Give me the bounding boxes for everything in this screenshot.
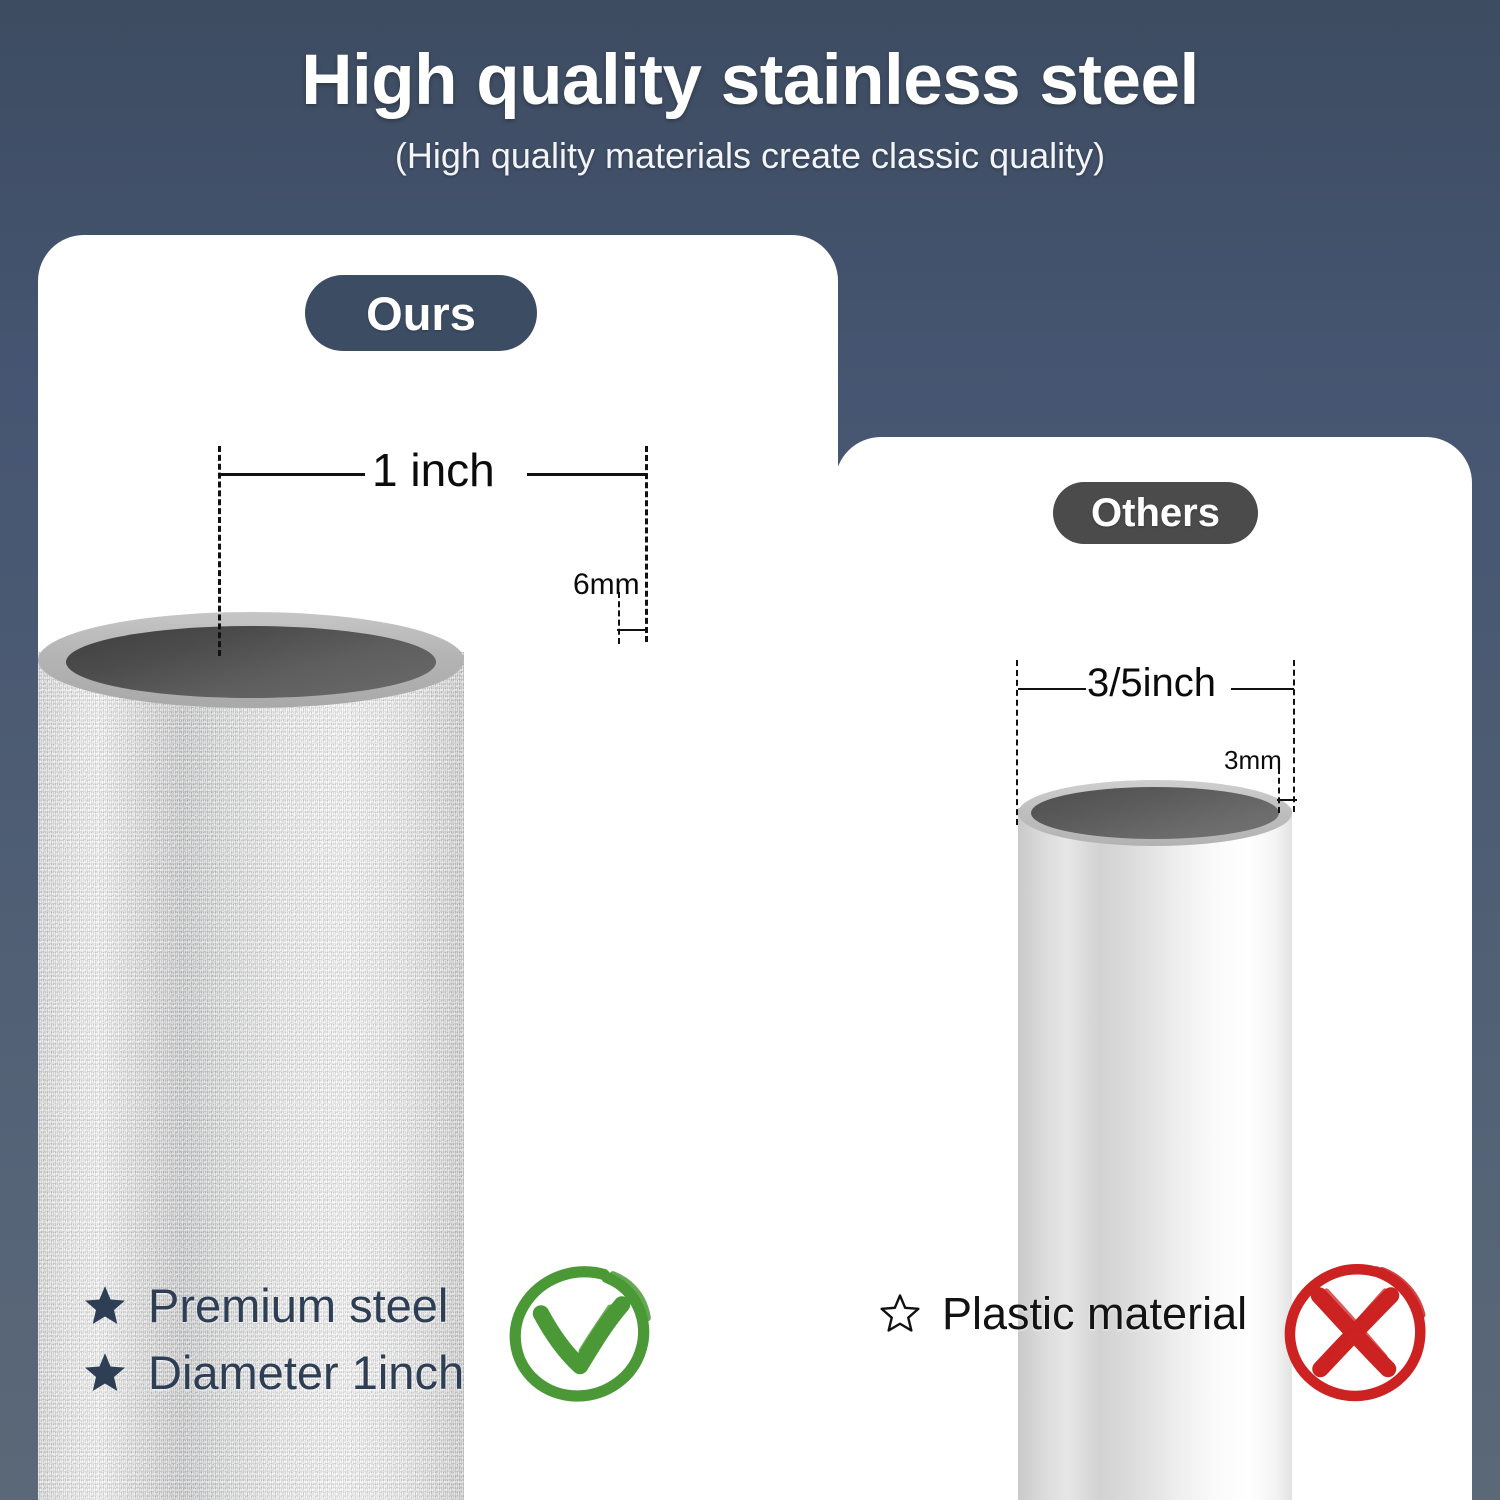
check-circle-icon (505, 1258, 655, 1408)
plastic-tube-body (1018, 808, 1292, 1500)
feature-label: Diameter 1inch (148, 1345, 464, 1400)
feature-row: Diameter 1inch (82, 1345, 464, 1400)
thickness-label-ours: 6mm (573, 568, 640, 602)
measure-bar-left-others (1018, 688, 1086, 690)
feature-label: Premium steel (148, 1278, 448, 1333)
page-title: High quality stainless steel (0, 40, 1500, 121)
extension-line-right-others (1293, 660, 1295, 812)
measure-bar-right-others (1231, 688, 1294, 690)
extension-line-left-ours (218, 446, 221, 656)
badge-others: Others (1053, 482, 1258, 544)
thickness-bar-others (1277, 799, 1297, 801)
feature-list-others: Plastic material (878, 1288, 1247, 1340)
feature-row: Premium steel (82, 1278, 464, 1333)
infographic-canvas: High quality stainless steel (High quali… (0, 0, 1500, 1500)
extension-line-left-others (1016, 660, 1018, 825)
measure-bar-right-ours (527, 473, 647, 476)
badge-ours: Ours (305, 275, 537, 351)
feature-label: Plastic material (942, 1288, 1247, 1340)
feature-list-ours: Premium steel Diameter 1inch (82, 1278, 464, 1400)
header: High quality stainless steel (High quali… (0, 0, 1500, 177)
thickness-bar-ours (617, 629, 648, 631)
cross-circle-icon (1280, 1258, 1430, 1408)
plastic-tube-illustration (1018, 780, 1292, 1500)
feature-row: Plastic material (878, 1288, 1247, 1340)
diameter-label-ours: 1 inch (372, 443, 495, 497)
plastic-tube-bore (1031, 787, 1279, 839)
page-subtitle: (High quality materials create classic q… (0, 135, 1500, 177)
thickness-label-others: 3mm (1224, 745, 1282, 776)
star-filled-icon (82, 1350, 128, 1396)
star-filled-icon (82, 1283, 128, 1329)
measure-bar-left-ours (220, 473, 365, 476)
star-outline-icon (878, 1292, 922, 1336)
steel-tube-bore (66, 626, 436, 698)
diameter-label-others: 3/5inch (1087, 661, 1216, 706)
